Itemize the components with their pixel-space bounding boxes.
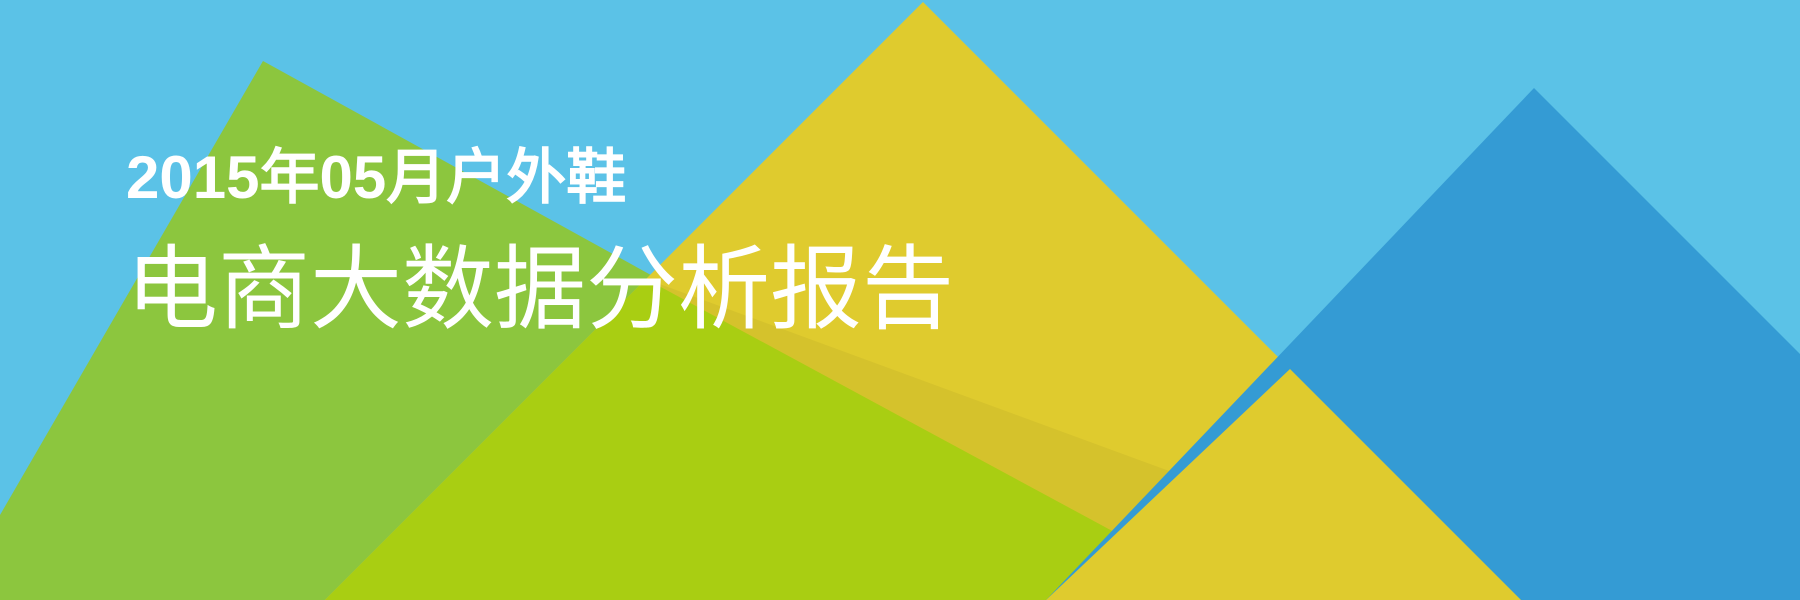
report-cover-banner: 2015年05月户外鞋 电商大数据分析报告: [0, 0, 1800, 600]
background-graphic: [0, 0, 1800, 600]
